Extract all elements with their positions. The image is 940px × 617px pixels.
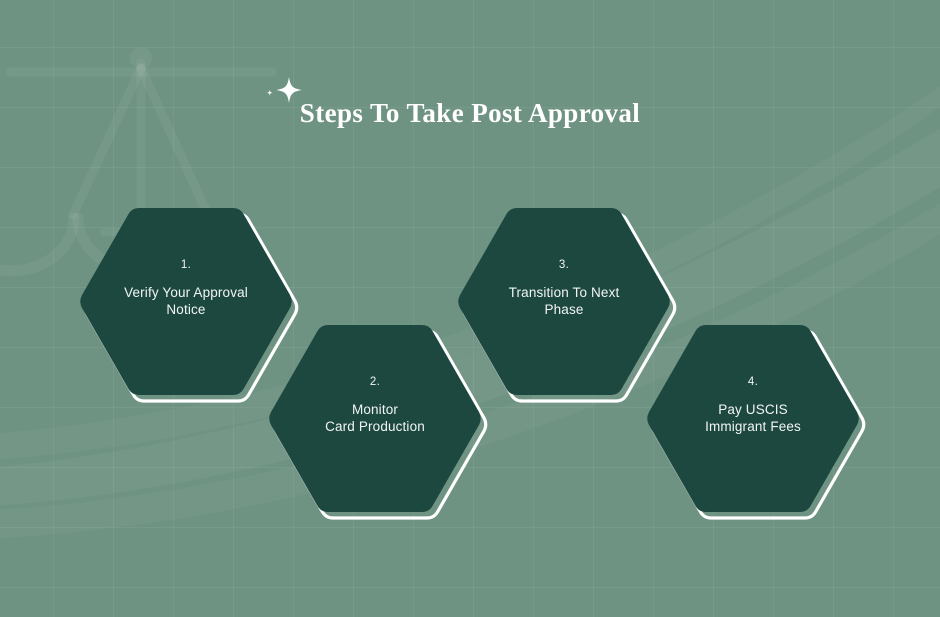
step-hexagon-4[interactable]: 4. Pay USCIS Immigrant Fees xyxy=(639,313,867,528)
infographic-canvas: Steps To Take Post Approval 1. Verify Yo… xyxy=(0,0,940,617)
hexagon-body-4 xyxy=(639,313,867,528)
page-title: Steps To Take Post Approval xyxy=(300,96,640,130)
sparkle-icon xyxy=(262,74,306,114)
page-title-block: Steps To Take Post Approval xyxy=(0,96,940,130)
